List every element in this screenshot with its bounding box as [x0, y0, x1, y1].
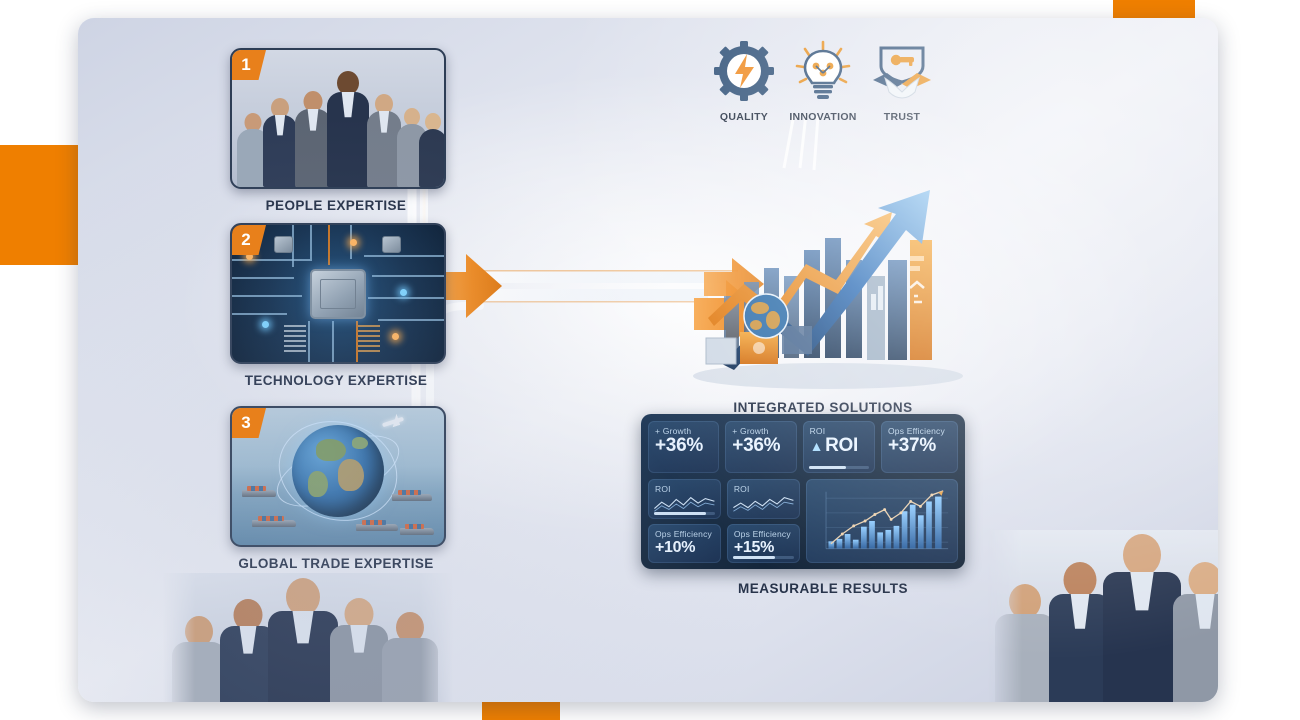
cargo-ship-icon — [400, 528, 434, 535]
progress-bar — [733, 556, 794, 559]
globe-icon — [292, 425, 384, 517]
kpi-row-top: + Growth +36% + Growth +36% ROI ▲ ROI O — [648, 421, 958, 473]
lightbulb-icon — [792, 40, 854, 102]
kpi-value-wrap: ▲ ROI — [810, 436, 868, 457]
kpi-caption: Ops Efficiency — [734, 529, 793, 539]
circuit-board-chip-photo — [232, 225, 444, 362]
kpi-tile-growth-2[interactable]: + Growth +36% — [725, 421, 796, 473]
kpi-caption: ROI — [655, 484, 714, 494]
card-thumbnail: 3 — [230, 406, 446, 547]
kpi-tile-ops-efficiency-15[interactable]: Ops Efficiency +15% — [727, 524, 800, 564]
kpi-caption: Ops Efficiency — [655, 529, 714, 539]
kpi-row-bottom: ROI Ops Efficiency +10% ROI — [648, 479, 958, 563]
kpi-tile-growth-1[interactable]: + Growth +36% — [648, 421, 719, 473]
cargo-ship-icon — [392, 494, 432, 501]
kpi-value: +36% — [732, 436, 789, 457]
combo-bar-line-chart — [813, 484, 951, 558]
arrow-up-icon: ▲ — [810, 439, 824, 454]
kpi-caption: ROI — [734, 484, 793, 494]
five-business-professionals — [988, 530, 1218, 702]
growth-chart-arrow-globe-graphic — [678, 168, 968, 390]
value-label: QUALITY — [708, 111, 780, 123]
measurable-results-dashboard[interactable]: + Growth +36% + Growth +36% ROI ▲ ROI O — [641, 414, 965, 569]
value-icons-row: QUALITY — [708, 40, 938, 123]
kpi-value: +10% — [655, 539, 714, 556]
cargo-ship-icon — [242, 490, 276, 497]
value-label: INNOVATION — [787, 111, 859, 123]
kpi-tile-roi[interactable]: ROI ▲ ROI — [803, 421, 875, 473]
kpi-value: +36% — [655, 436, 712, 457]
expertise-card-people[interactable]: 1 — [230, 48, 442, 213]
progress-bar — [809, 466, 869, 469]
handshake-shield-icon — [871, 40, 933, 102]
kpi-col-1: ROI Ops Efficiency +10% — [648, 479, 721, 563]
kpi-col-2: ROI Ops Efficiency +15% — [727, 479, 800, 563]
expertise-card-technology[interactable]: 2 — [230, 223, 442, 388]
main-panel: 1 — [78, 18, 1218, 702]
dashboard-label: MEASURABLE RESULTS — [648, 581, 998, 596]
team-photo-left — [163, 573, 453, 702]
kpi-value: +15% — [734, 539, 793, 556]
kpi-value: +37% — [888, 436, 951, 457]
team-photo-right — [988, 530, 1218, 702]
card-label: TECHNOLOGY EXPERTISE — [230, 373, 442, 388]
cpu-chip-icon — [310, 269, 366, 319]
results-combo-chart[interactable] — [806, 479, 958, 563]
card-thumbnail: 2 — [230, 223, 446, 364]
value-quality[interactable]: QUALITY — [708, 40, 780, 123]
kpi-tile-ops-efficiency-10[interactable]: Ops Efficiency +10% — [648, 524, 721, 564]
infographic-canvas: 1 — [0, 0, 1300, 720]
sparkline — [727, 494, 800, 514]
card-label: PEOPLE EXPERTISE — [230, 198, 442, 213]
value-trust[interactable]: TRUST — [866, 40, 938, 123]
kpi-tile-ops-efficiency-37[interactable]: Ops Efficiency +37% — [881, 421, 958, 473]
sparkline-tile-roi-2[interactable]: ROI — [727, 479, 800, 519]
cargo-ship-icon — [252, 520, 296, 527]
globe-cargo-ships-photo — [232, 408, 444, 545]
airplane-icon — [382, 417, 404, 428]
progress-bar — [654, 512, 715, 515]
value-innovation[interactable]: INNOVATION — [787, 40, 859, 123]
hero-label: INTEGRATED SOLUTIONS — [648, 400, 998, 415]
value-label: TRUST — [866, 111, 938, 123]
gear-lightning-icon — [713, 40, 775, 102]
kpi-value: ROI — [825, 436, 858, 457]
card-label: GLOBAL TRADE EXPERTISE — [230, 556, 442, 571]
sparkline — [648, 494, 721, 514]
sparkline-tile-roi-1[interactable]: ROI — [648, 479, 721, 519]
expertise-card-global-trade[interactable]: 3 GLOBA — [230, 406, 442, 571]
five-business-professionals — [163, 573, 453, 702]
cargo-ship-icon — [356, 524, 398, 531]
card-thumbnail: 1 — [230, 48, 446, 189]
business-team-photo — [232, 50, 444, 187]
